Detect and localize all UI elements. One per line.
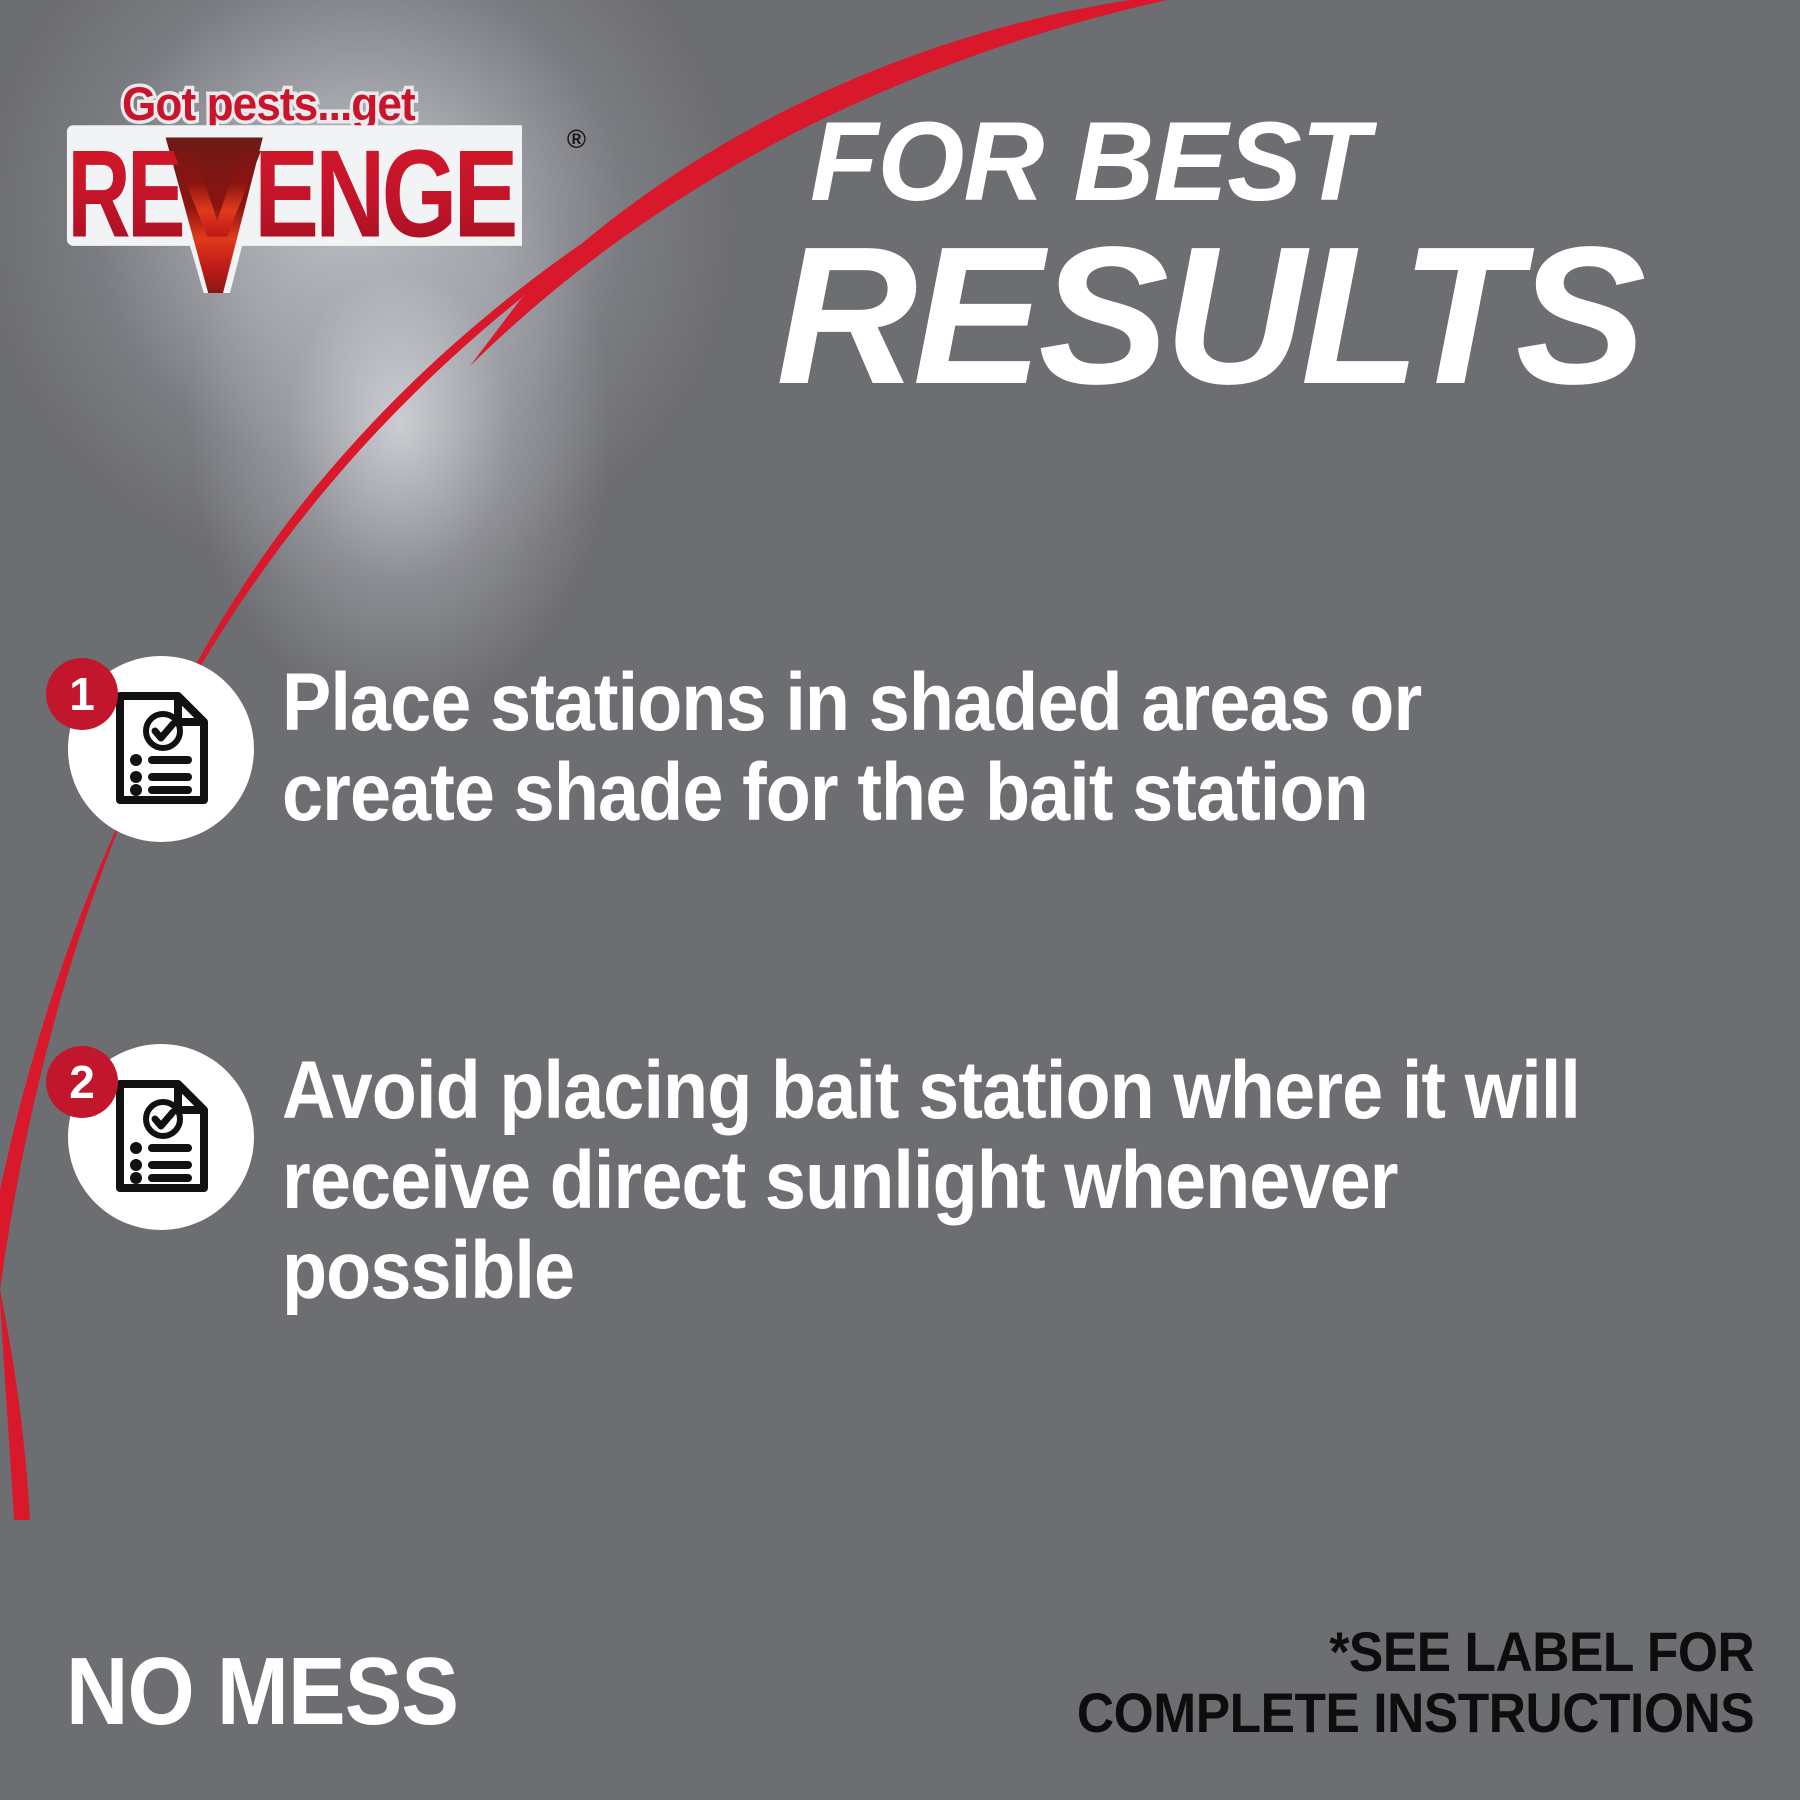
list-item: 1 Place stations in shaded areas or crea… [0, 640, 1800, 848]
step-description: Place stations in shaded areas or create… [282, 640, 1630, 838]
disclaimer-line-1: *SEE LABEL FOR [1077, 1621, 1754, 1683]
svg-text:ENGE: ENGE [254, 125, 515, 264]
poster-canvas: Got pests...get [0, 0, 1800, 1800]
disclaimer: *SEE LABEL FOR COMPLETE INSTRUCTIONS [1077, 1621, 1754, 1744]
headline-line-2: RESULTS [770, 222, 1770, 410]
instruction-steps-list: 1 Place stations in shaded areas or crea… [0, 640, 1800, 1317]
headline-line-1: FOR BEST [770, 108, 1770, 216]
disclaimer-line-2: COMPLETE INSTRUCTIONS [1077, 1682, 1754, 1744]
checklist-document-icon [114, 1078, 210, 1194]
registered-trademark-icon: ® [567, 124, 586, 155]
step-icon-group: 2 [46, 1036, 246, 1236]
page-title: FOR BEST RESULTS [770, 108, 1770, 410]
footer: NO MESS *SEE LABEL FOR COMPLETE INSTRUCT… [0, 1570, 1800, 1800]
step-icon-group: 1 [46, 648, 246, 848]
svg-text:RE: RE [67, 125, 182, 264]
checklist-document-icon [114, 690, 210, 806]
brand-wordmark: RE ENGE V [62, 118, 522, 293]
step-number-badge: 1 [46, 658, 118, 730]
list-item: 2 Avoid placing bait station where it wi… [0, 1028, 1800, 1317]
step-number-badge: 2 [46, 1046, 118, 1118]
brand-logo: Got pests...get [62, 58, 582, 498]
svg-text:V: V [172, 125, 261, 264]
step-description: Avoid placing bait station where it will… [282, 1028, 1630, 1317]
no-mess-claim: NO MESS [66, 1644, 458, 1740]
